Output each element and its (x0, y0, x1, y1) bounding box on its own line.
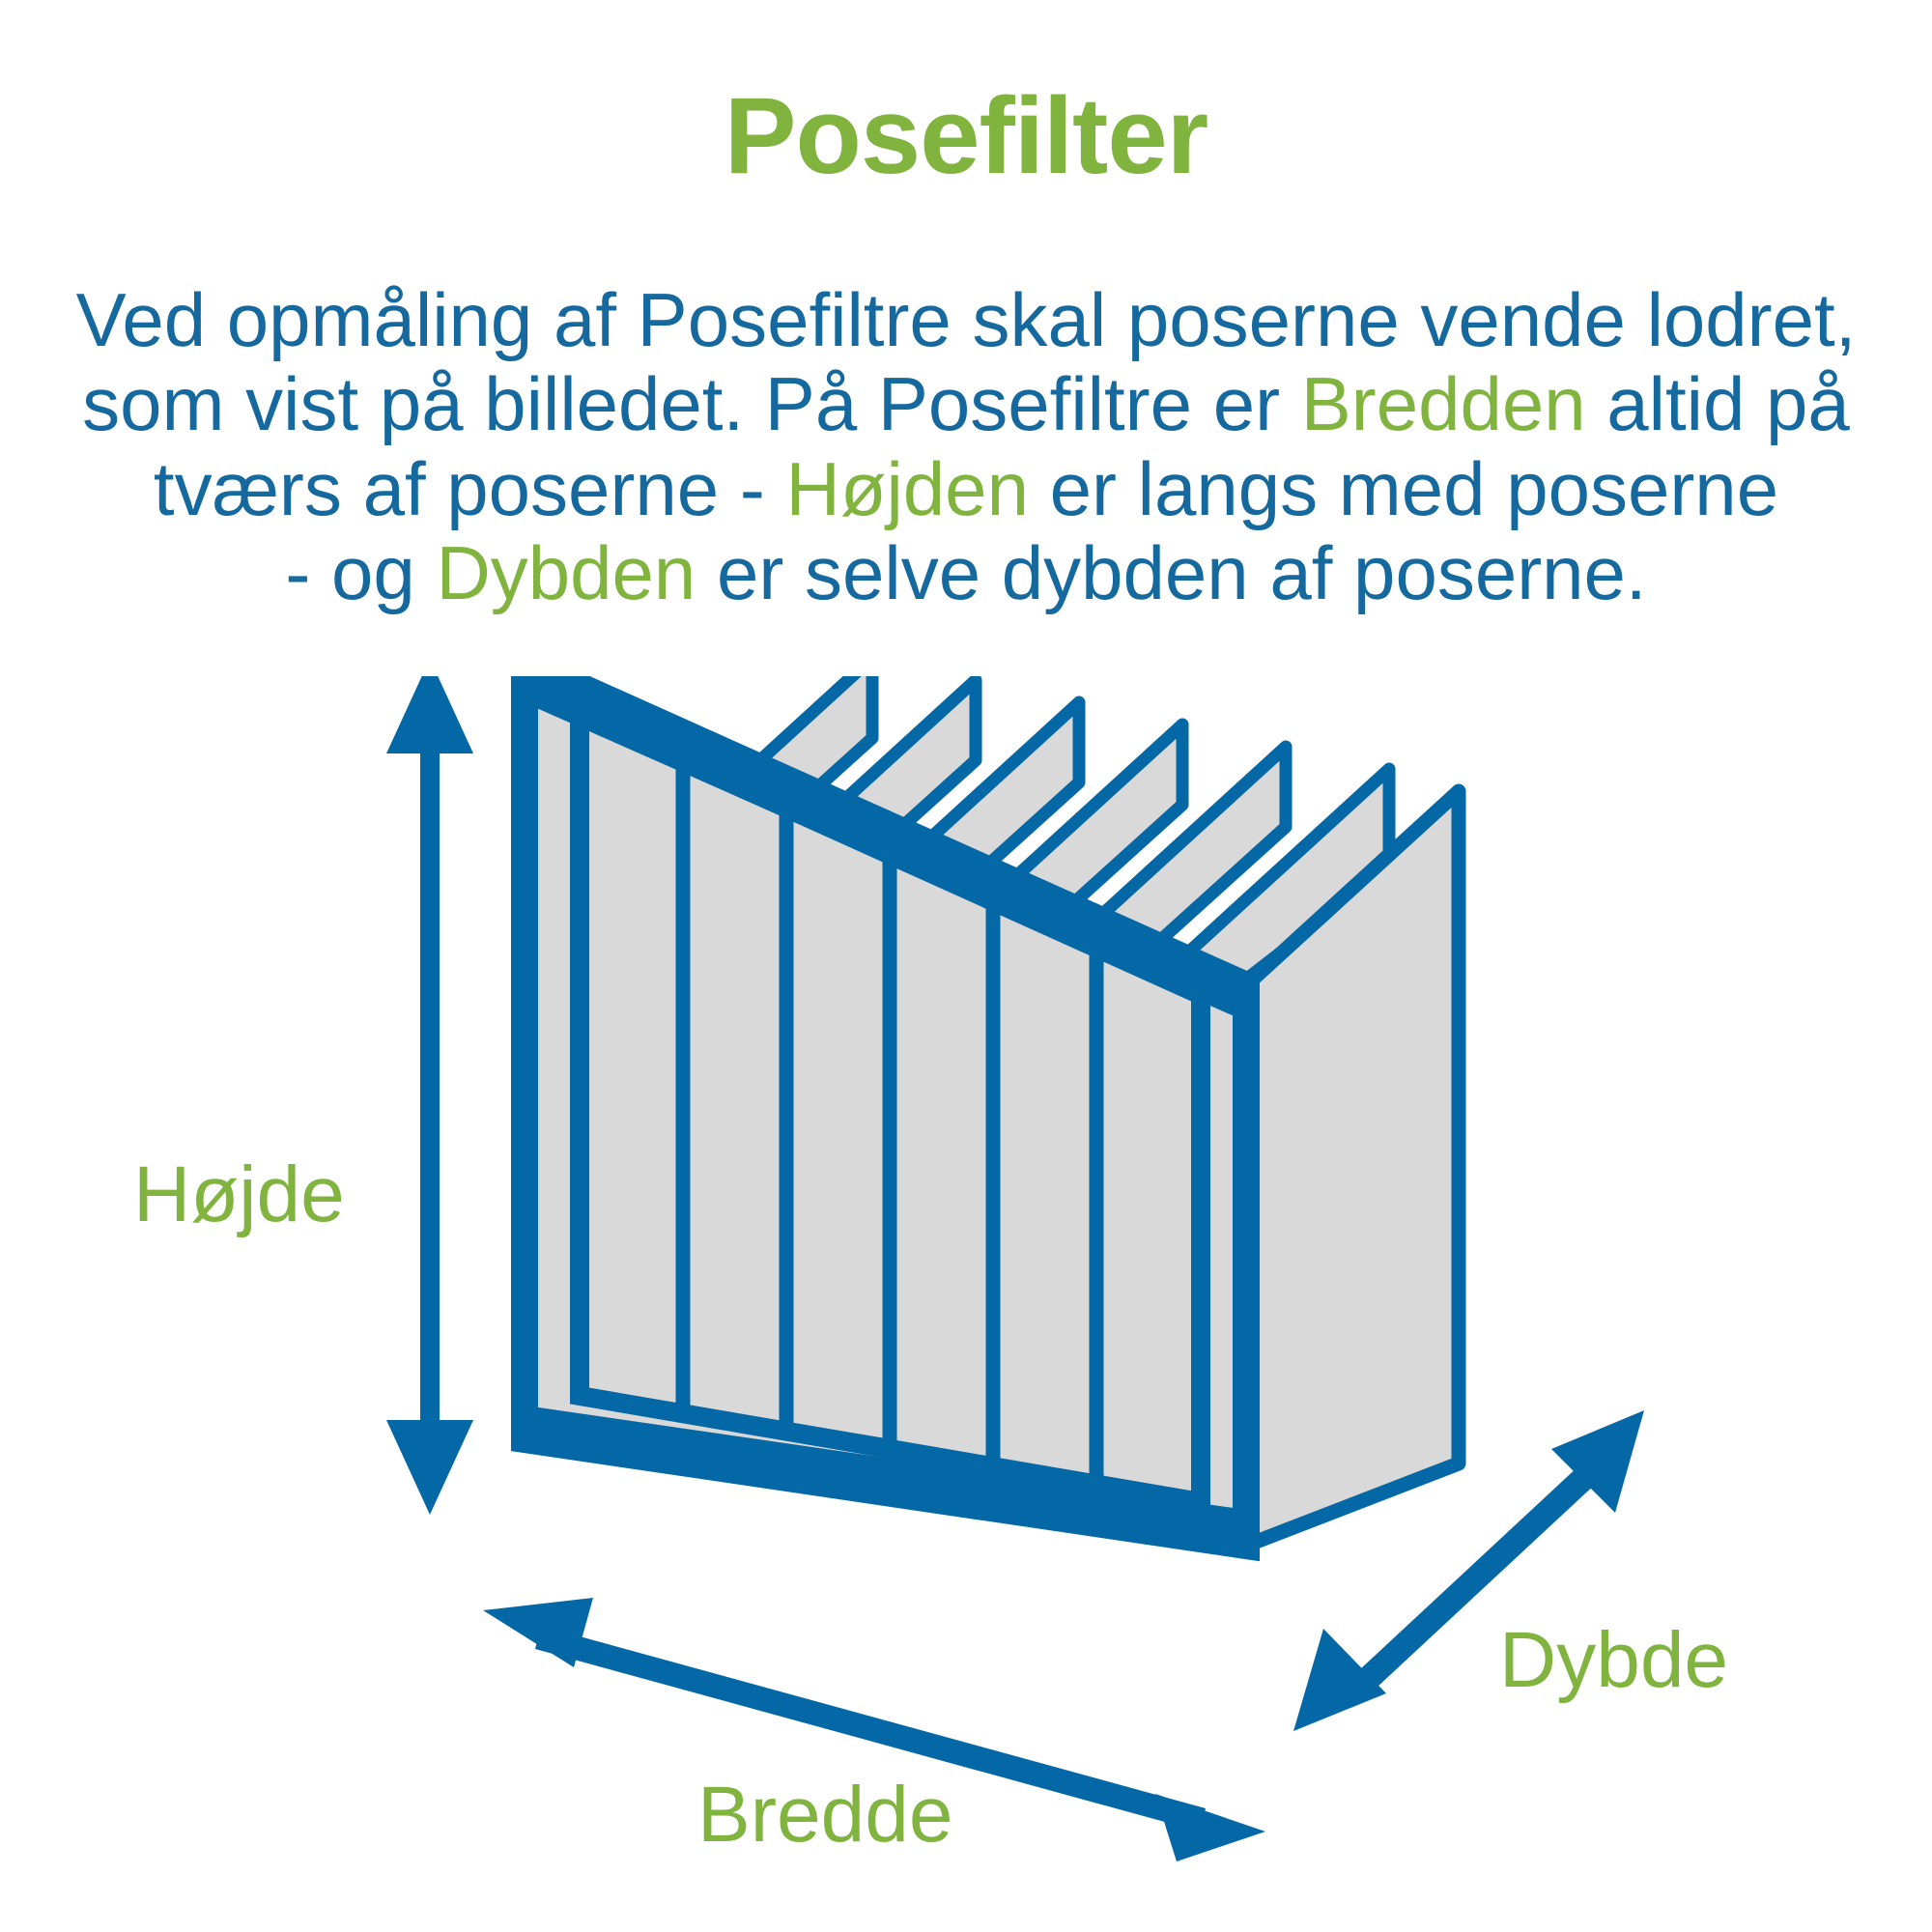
dimension-label-height: Højde (133, 1155, 345, 1235)
intro-line-1: Ved opmåling af Posefiltre skal poserne … (68, 278, 1864, 362)
highlight-dybden: Dybden (436, 530, 696, 615)
height-arrow (386, 676, 473, 1515)
height-arrow-head-up (386, 676, 473, 753)
intro-text: Ved opmåling af Posefiltre skal poserne … (76, 277, 1857, 362)
bag-filter-diagram (0, 676, 1932, 1932)
width-arrow-head-left (483, 1598, 593, 1667)
page-title: Posefilter (0, 82, 1932, 190)
highlight-bredden: Bredden (1301, 361, 1586, 446)
dimension-label-depth: Dybde (1499, 1621, 1728, 1700)
intro-text: er selve dybden af poserne. (696, 530, 1646, 615)
depth-arrow-head-down (1293, 1629, 1386, 1731)
width-arrow-head-right (1155, 1794, 1265, 1861)
height-arrow-head-down (386, 1420, 473, 1515)
intro-text: tværs af poserne - (154, 446, 786, 531)
intro-text: altid på (1586, 361, 1850, 446)
intro-text: som vist på billedet. På Posefiltre er (82, 361, 1301, 446)
highlight-hojden: Højden (786, 446, 1029, 531)
intro-text: er langs med poserne (1029, 446, 1778, 531)
poster-page: Posefilter Ved opmåling af Posefiltre sk… (0, 0, 1932, 1932)
intro-line-2: som vist på billedet. På Posefiltre er B… (68, 362, 1864, 446)
intro-text: - og (285, 530, 436, 615)
height-arrow-shaft (420, 705, 440, 1468)
intro-paragraph: Ved opmåling af Posefiltre skal poserne … (68, 278, 1864, 615)
dimension-label-width: Bredde (697, 1776, 952, 1855)
intro-line-4: - og Dybden er selve dybden af poserne. (68, 531, 1864, 615)
intro-line-3: tværs af poserne - Højden er langs med p… (68, 447, 1864, 531)
